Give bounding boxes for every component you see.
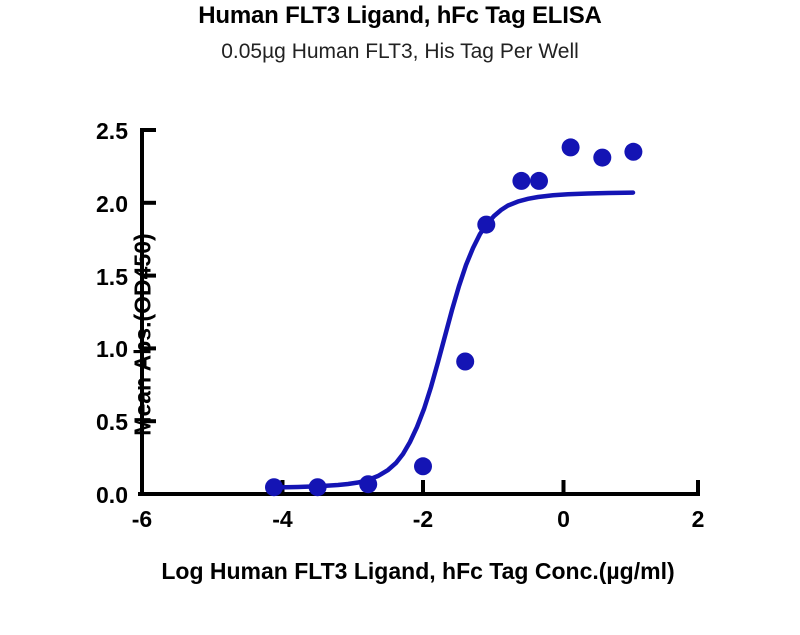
data-point <box>309 478 327 496</box>
x-tick-label-2: -2 <box>393 506 453 533</box>
chart-subtitle: 0.05µg Human FLT3, His Tag Per Well <box>0 40 800 64</box>
data-point <box>414 457 432 475</box>
y-tick-label-0: 0.0 <box>50 482 128 509</box>
data-point <box>477 216 495 234</box>
y-tick-label-4: 2.0 <box>50 191 128 218</box>
data-point <box>456 353 474 371</box>
fit-curve <box>274 193 633 488</box>
plot-area: 0.0 0.5 1.0 1.5 2.0 2.5 -6 -4 -2 0 2 Mea… <box>138 128 700 516</box>
x-tick-label-1: -4 <box>253 506 313 533</box>
chart-title: Human FLT3 Ligand, hFc Tag ELISA <box>0 2 800 30</box>
y-tick-label-1: 0.5 <box>50 409 128 436</box>
elisa-chart-figure: Human FLT3 Ligand, hFc Tag ELISA 0.05µg … <box>0 0 800 600</box>
data-point <box>530 172 548 190</box>
x-tick-label-3: 0 <box>534 506 594 533</box>
data-point <box>512 172 530 190</box>
data-point <box>562 138 580 156</box>
x-tick-marks <box>142 480 698 494</box>
x-axis-label: Log Human FLT3 Ligand, hFc Tag Conc.(µg/… <box>0 558 800 585</box>
data-point <box>593 149 611 167</box>
y-tick-label-3: 1.5 <box>50 264 128 291</box>
data-point <box>359 475 377 493</box>
data-point <box>265 478 283 496</box>
plot-svg <box>138 128 700 516</box>
y-axis-label: Mean Abs.(OD450) <box>130 35 157 635</box>
data-point <box>624 143 642 161</box>
y-tick-label-5: 2.5 <box>50 118 128 145</box>
x-tick-label-4: 2 <box>668 506 728 533</box>
y-tick-label-2: 1.0 <box>50 336 128 363</box>
